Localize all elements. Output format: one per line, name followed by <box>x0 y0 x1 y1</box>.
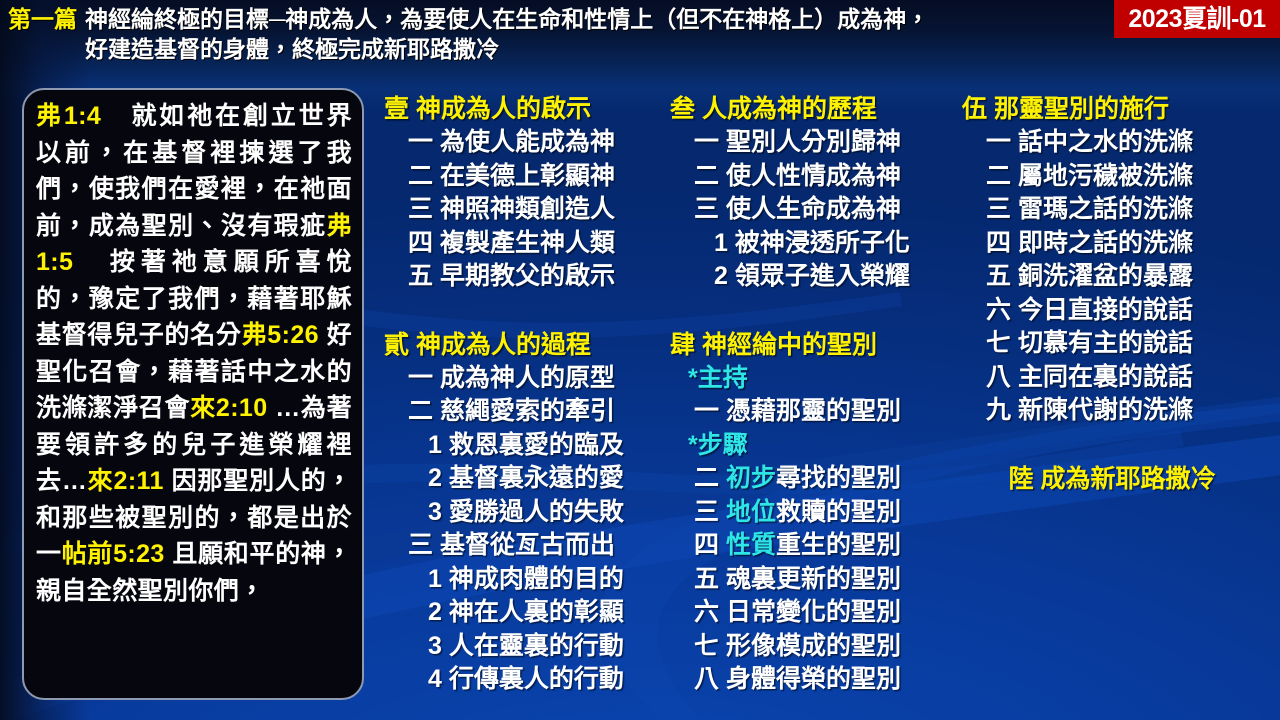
section-heading: 貳 神成為人的過程 <box>384 328 676 362</box>
outline-point: 七 形像模成的聖別 <box>670 630 966 664</box>
outline-point-highlight: 性質 <box>726 531 776 559</box>
outline-point-prefix: 二 <box>694 464 726 492</box>
outline-point: 三 地位救贖的聖別 <box>670 496 966 530</box>
outline-point: 3 人在靈裏的行動 <box>384 630 676 664</box>
outline-point-suffix: 重生的聖別 <box>776 531 901 559</box>
section-heading: 陸 成為新耶路撒冷 <box>962 462 1262 496</box>
section-heading: 肆 神經綸中的聖別 <box>670 328 966 362</box>
header-text-row: 第一篇 神經綸終極的目標─神成為人，為要使人在生命和性情上（但不在神格上）成為神… <box>8 4 1168 64</box>
outline-point: 四 複製產生神人類 <box>384 227 676 261</box>
outline-point: 二 使人性情成為神 <box>670 160 966 194</box>
outline-point-prefix: 三 <box>694 498 726 526</box>
outline-point: 七 切慕有主的說話 <box>962 327 1262 361</box>
outline-point: 六 今日直接的說話 <box>962 294 1262 328</box>
outline-point-prefix: 四 <box>694 531 726 559</box>
outline-point: 一 成為神人的原型 <box>384 362 676 396</box>
page-title: 神經綸終極的目標─神成為人，為要使人在生命和性情上（但不在神格上）成為神， 好建… <box>85 4 929 64</box>
outline-point: 三 使人生命成為神 <box>670 193 966 227</box>
outline-point: 2 領眾子進入榮耀 <box>670 260 966 294</box>
outline-point: 四 性質重生的聖別 <box>670 529 966 563</box>
section-spacer <box>384 294 676 328</box>
outline-point: 八 主同在裏的說話 <box>962 361 1262 395</box>
outline-point: 一 聖別人分別歸神 <box>670 126 966 160</box>
scripture-panel: 弗1:4 就如祂在創立世界以前，在基督裡揀選了我們，使我們在愛裡，在祂面前，成為… <box>22 88 364 700</box>
outline-point: 六 日常變化的聖別 <box>670 596 966 630</box>
outline-point: 4 行傳裏人的行動 <box>384 663 676 697</box>
outline-note: *步驟 <box>670 429 966 463</box>
outline-point: 二 屬地污穢被洗滌 <box>962 160 1262 194</box>
outline-column-2: 叁 人成為神的歷程一 聖別人分別歸神二 使人性情成為神三 使人生命成為神1 被神… <box>670 92 966 697</box>
outline-point: 三 雷瑪之話的洗滌 <box>962 193 1262 227</box>
outline-point: 2 基督裏永遠的愛 <box>384 462 676 496</box>
outline-point: 二 慈繩愛索的牽引 <box>384 395 676 429</box>
verse-list: 弗1:4 就如祂在創立世界以前，在基督裡揀選了我們，使我們在愛裡，在祂面前，成為… <box>36 98 352 609</box>
section-heading: 叁 人成為神的歷程 <box>670 92 966 126</box>
verse-block: 弗1:4 就如祂在創立世界以前，在基督裡揀選了我們，使我們在愛裡，在祂面前，成為… <box>36 98 352 609</box>
message-number-label: 第一篇 <box>8 4 77 34</box>
verse-reference: 弗5:26 <box>242 321 319 349</box>
page-title-line-1: 神經綸終極的目標─神成為人，為要使人在生命和性情上（但不在神格上）成為神， <box>85 6 929 32</box>
outline-point: 三 神照神類創造人 <box>384 193 676 227</box>
outline-point: 一 話中之水的洗滌 <box>962 126 1262 160</box>
outline-point: 1 神成肉體的目的 <box>384 563 676 597</box>
section-heading: 壹 神成為人的啟示 <box>384 92 676 126</box>
outline-point-highlight: 初步 <box>726 464 776 492</box>
outline-point: 五 銅洗濯盆的暴露 <box>962 260 1262 294</box>
outline-point: 二 在美德上彰顯神 <box>384 160 676 194</box>
outline-point: 一 憑藉那靈的聖別 <box>670 395 966 429</box>
status-badge: 2023夏訓-01 <box>1114 0 1280 38</box>
slide-header: 第一篇 神經綸終極的目標─神成為人，為要使人在生命和性情上（但不在神格上）成為神… <box>0 0 1280 72</box>
outline-point: 二 初步尋找的聖別 <box>670 462 966 496</box>
outline-point-suffix: 救贖的聖別 <box>776 498 901 526</box>
section-spacer <box>670 294 966 328</box>
outline-note: *主持 <box>670 362 966 396</box>
outline-point-suffix: 尋找的聖別 <box>776 464 901 492</box>
outline-point: 四 即時之話的洗滌 <box>962 227 1262 261</box>
outline-point: 三 基督從亙古而出 <box>384 529 676 563</box>
outline-point-highlight: 地位 <box>726 498 776 526</box>
outline-column-3: 伍 那靈聖別的施行一 話中之水的洗滌二 屬地污穢被洗滌三 雷瑪之話的洗滌四 即時… <box>962 92 1262 496</box>
verse-reference: 弗1:4 <box>36 102 101 130</box>
section-heading: 伍 那靈聖別的施行 <box>962 92 1262 126</box>
outline-point: 九 新陳代謝的洗滌 <box>962 394 1262 428</box>
verse-reference: 帖前5:23 <box>62 540 165 568</box>
slide-root: 第一篇 神經綸終極的目標─神成為人，為要使人在生命和性情上（但不在神格上）成為神… <box>0 0 1280 720</box>
outline-point: 1 救恩裏愛的臨及 <box>384 429 676 463</box>
outline-point: 五 魂裏更新的聖別 <box>670 563 966 597</box>
outline-point: 一 為使人能成為神 <box>384 126 676 160</box>
outline-point: 八 身體得榮的聖別 <box>670 663 966 697</box>
verse-reference: 來2:11 <box>87 467 164 495</box>
outline-column-1: 壹 神成為人的啟示一 為使人能成為神二 在美德上彰顯神三 神照神類創造人四 複製… <box>384 92 676 697</box>
outline-point: 五 早期教父的啟示 <box>384 260 676 294</box>
page-title-line-2: 好建造基督的身體，終極完成新耶路撒冷 <box>85 34 929 64</box>
verse-reference: 來2:10 <box>190 394 267 422</box>
outline-point: 2 神在人裏的彰顯 <box>384 596 676 630</box>
outline-point: 1 被神浸透所子化 <box>670 227 966 261</box>
outline-point: 3 愛勝過人的失敗 <box>384 496 676 530</box>
section-spacer <box>962 428 1262 462</box>
